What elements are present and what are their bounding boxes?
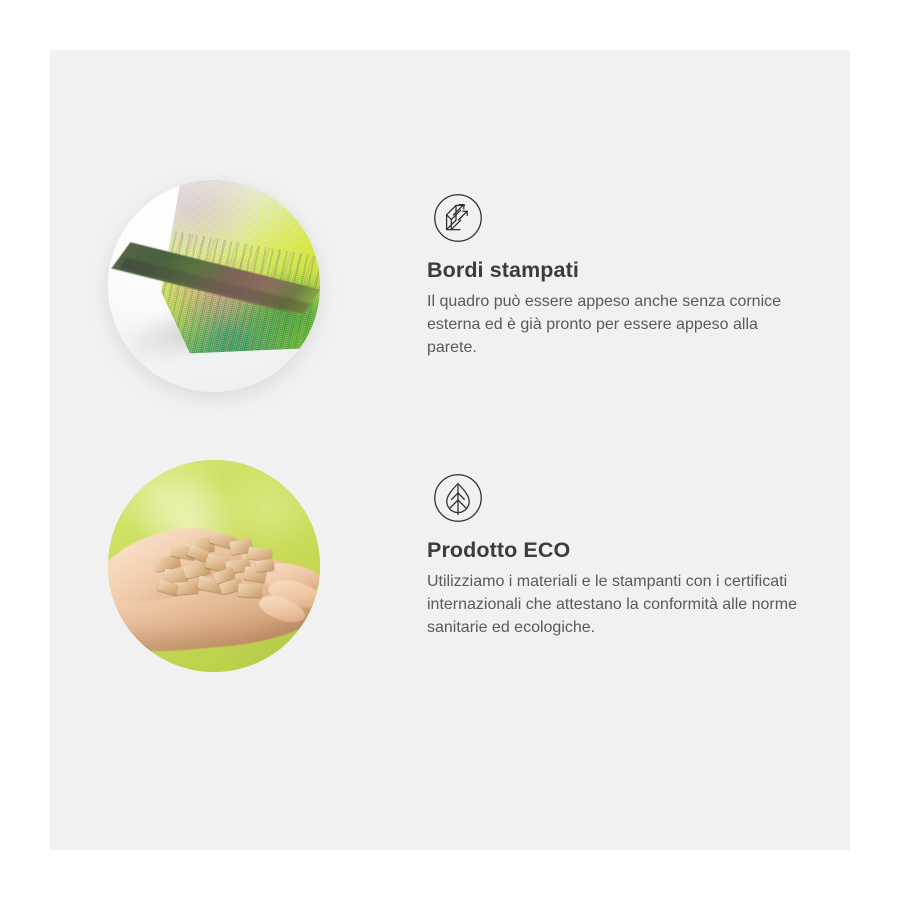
- feature-description: Il quadro può essere appeso anche senza …: [427, 290, 797, 359]
- feature-description: Utilizziamo i materiali e le stampanti c…: [427, 570, 797, 639]
- canvas-print-corner-photo: [108, 180, 320, 392]
- wood-chip: [255, 559, 274, 572]
- leaf-icon: [433, 473, 483, 523]
- wood-chips-in-hands-photo: [108, 460, 320, 672]
- content-panel: Bordi stampati Il quadro può essere appe…: [50, 50, 850, 850]
- wood-chips-pile: [152, 526, 280, 600]
- feature-text-prodotto-eco: Prodotto ECO Utilizziamo i materiali e l…: [427, 538, 807, 639]
- product-feature-infographic: Bordi stampati Il quadro può essere appe…: [0, 0, 900, 900]
- feature-title: Prodotto ECO: [427, 538, 807, 563]
- feature-text-bordi-stampati: Bordi stampati Il quadro può essere appe…: [427, 258, 807, 359]
- printed-edges-icon: [433, 193, 483, 243]
- wood-chip: [238, 583, 263, 598]
- feature-title: Bordi stampati: [427, 258, 807, 283]
